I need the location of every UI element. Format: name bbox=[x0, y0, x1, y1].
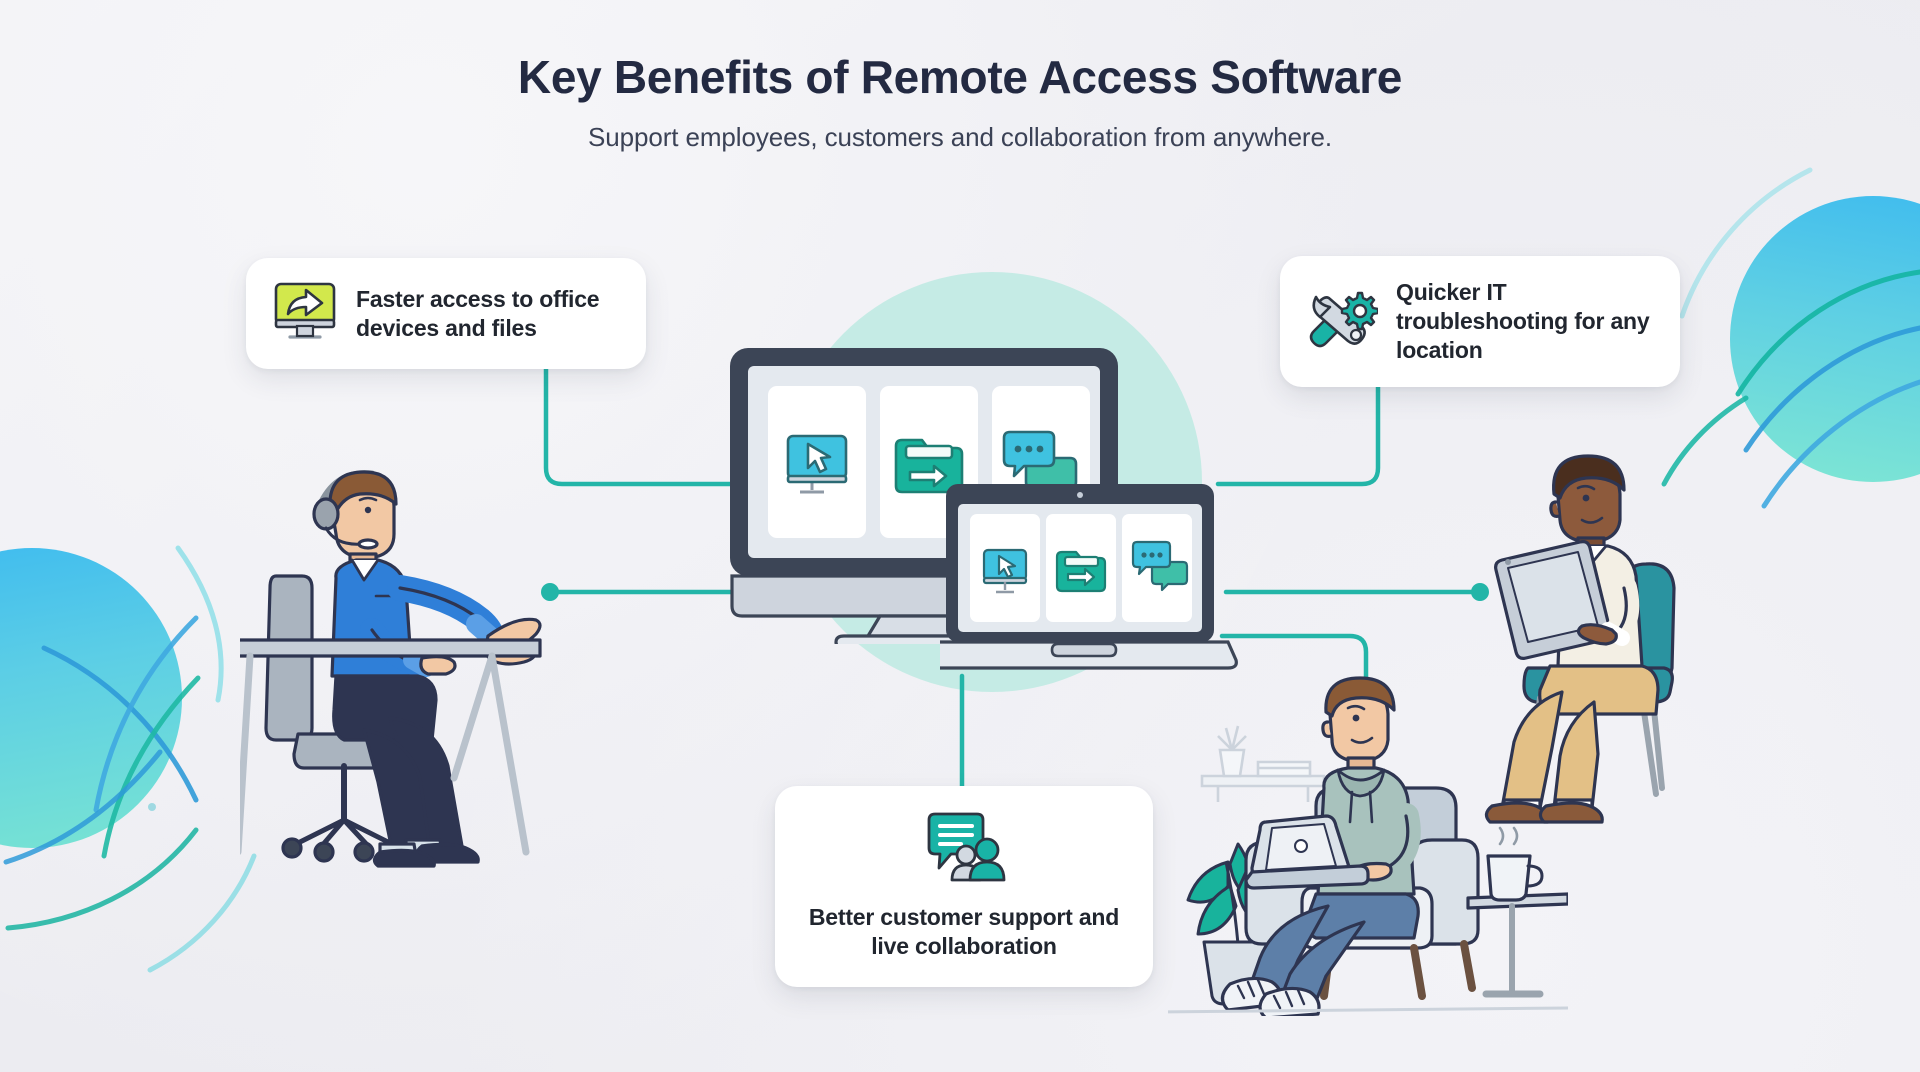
laptop-folder-arrow-tile bbox=[1057, 552, 1105, 591]
figure-armchair-user bbox=[1168, 676, 1568, 1016]
benefit-card-text: Faster access to office devices and file… bbox=[356, 285, 620, 343]
wall-shelf-with-books-and-plant bbox=[1202, 726, 1324, 802]
laptop bbox=[940, 478, 1240, 688]
benefit-card-quicker-it[interactable]: Quicker IT troubleshooting for any locat… bbox=[1280, 256, 1680, 387]
benefit-card-better-support[interactable]: Better customer support and live collabo… bbox=[775, 786, 1153, 987]
wrench-gear-icon bbox=[1306, 287, 1378, 356]
infographic-canvas: Key Benefits of Remote Access Software S… bbox=[0, 0, 1920, 1072]
benefit-card-text: Better customer support and live collabo… bbox=[795, 903, 1133, 961]
benefit-card-faster-access[interactable]: Faster access to office devices and file… bbox=[246, 258, 646, 369]
figure-support-agent bbox=[240, 448, 660, 868]
chat-people-icon bbox=[921, 871, 1007, 888]
benefit-card-text: Quicker IT troubleshooting for any locat… bbox=[1396, 278, 1654, 365]
monitor-share-icon bbox=[272, 280, 338, 347]
